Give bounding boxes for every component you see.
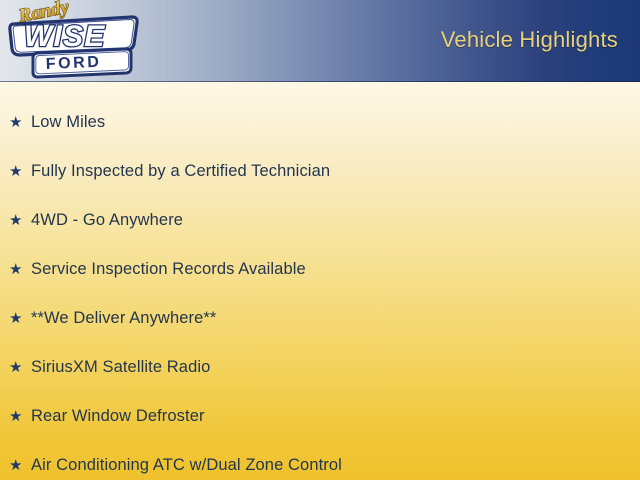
list-item-label: SiriusXM Satellite Radio [31,358,210,377]
star-icon: ★ [9,164,31,179]
list-item: ★ SiriusXM Satellite Radio [0,343,640,392]
star-icon: ★ [9,115,31,130]
header-banner: WISE Randy FORD Vehicle Highlights [0,0,640,82]
list-item-label: 4WD - Go Anywhere [31,211,183,230]
list-item: ★ 4WD - Go Anywhere [0,196,640,245]
list-item: ★ **We Deliver Anywhere** [0,294,640,343]
list-item-label: Service Inspection Records Available [31,260,306,279]
list-item-label: Rear Window Defroster [31,407,205,426]
logo-wise-text: WISE [24,20,105,53]
star-icon: ★ [9,213,31,228]
list-item: ★ Service Inspection Records Available [0,245,640,294]
logo-ford-text: FORD [45,54,101,73]
list-item-label: Fully Inspected by a Certified Technicia… [31,162,330,181]
list-item-label: Low Miles [31,113,105,132]
list-item: ★ Fully Inspected by a Certified Technic… [0,147,640,196]
logo-ford-banner: FORD [33,49,131,77]
list-item: ★ Air Conditioning ATC w/Dual Zone Contr… [0,441,640,480]
vehicle-highlights-list: ★ Low Miles ★ Fully Inspected by a Certi… [0,82,640,480]
star-icon: ★ [9,311,31,326]
vehicle-highlights-slide: WISE Randy FORD Vehicle Highlights ★ Low… [0,0,640,480]
list-item-label: Air Conditioning ATC w/Dual Zone Control [31,456,342,475]
dealership-logo[interactable]: WISE Randy FORD [4,0,144,82]
list-item: ★ Low Miles [0,98,640,147]
star-icon: ★ [9,262,31,277]
list-item: ★ Rear Window Defroster [0,392,640,441]
star-icon: ★ [9,458,31,473]
star-icon: ★ [9,409,31,424]
page-title: Vehicle Highlights [441,27,618,53]
list-item-label: **We Deliver Anywhere** [31,309,216,328]
star-icon: ★ [9,360,31,375]
